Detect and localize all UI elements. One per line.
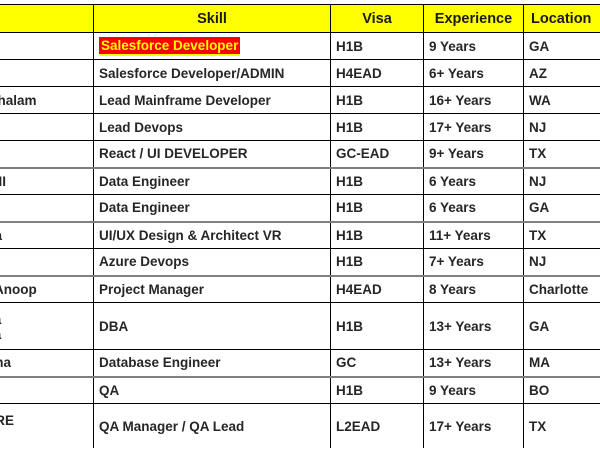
cell-experience[interactable]: 8 Years [424,276,524,303]
cell-location[interactable]: GA [524,33,600,60]
cell-location[interactable]: NJ [524,114,600,141]
cell-visa[interactable]: H1B [331,303,424,350]
cell-name[interactable]: mratha [0,350,94,377]
name-multiline: SHORE MAR [0,413,88,443]
table-row[interactable]: vi Data Engineer H1B 6 Years GA [0,195,600,222]
cell-experience[interactable]: 11+ Years [424,222,524,249]
spreadsheet-viewport: me Skill Visa Experience Location eethi … [0,0,600,450]
cell-skill[interactable]: Database Engineer [94,350,331,377]
cell-location[interactable]: GA [524,195,600,222]
column-header-location[interactable]: Location [524,5,600,33]
cell-location[interactable]: TX [524,222,600,249]
cell-experience[interactable]: 16+ Years [424,87,524,114]
cell-name[interactable]: eeraj [0,141,94,168]
cell-skill[interactable]: Azure Devops [94,249,331,276]
cell-name[interactable]: kal [0,249,94,276]
cell-visa[interactable]: H4EAD [331,276,424,303]
column-header-visa[interactable]: Visa [331,5,424,33]
cell-skill[interactable]: UI/UX Design & Architect VR [94,222,331,249]
skill-highlight: Salesforce Developer [99,37,240,56]
cell-visa[interactable]: H1B [331,222,424,249]
table-row[interactable]: ranya UI/UX Design & Architect VR H1B 11… [0,222,600,249]
cell-visa[interactable]: H1B [331,114,424,141]
candidate-table: me Skill Visa Experience Location eethi … [0,4,600,450]
cell-visa[interactable]: L2EAD [331,404,424,450]
table-body: eethi Salesforce Developer H1B 9 Years G… [0,33,600,450]
cell-location[interactable]: Charlotte [524,276,600,303]
table-row[interactable]: eeraj React / UI DEVELOPER GC-EAD 9+ Yea… [0,141,600,168]
cell-location[interactable]: TX [524,141,600,168]
table-row[interactable]: AVANI Data Engineer H1B 6 Years NJ [0,168,600,195]
cell-location[interactable]: MA [524,350,600,377]
cell-location[interactable]: TX [524,404,600,450]
table-row[interactable]: gna Salesforce Developer/ADMIN H4EAD 6+ … [0,60,600,87]
table-header: me Skill Visa Experience Location [0,5,600,33]
cell-location[interactable]: BO [524,377,600,404]
cell-name[interactable]: ranya [0,222,94,249]
name-multiline: nkata mana [0,312,88,342]
name-line-2: mana [0,327,88,342]
cell-experience[interactable]: 17+ Years [424,114,524,141]
cell-name[interactable]: vi [0,195,94,222]
column-header-skill[interactable]: Skill [94,5,331,33]
cell-skill[interactable]: Salesforce Developer [94,33,331,60]
cell-experience[interactable]: 17+ Years [424,404,524,450]
cell-name[interactable]: uthi Anoop [0,276,94,303]
cell-skill[interactable]: React / UI DEVELOPER [94,141,331,168]
cell-location[interactable]: GA [524,303,600,350]
cell-visa[interactable]: H1B [331,87,424,114]
table-row[interactable]: SHORE MAR QA Manager / QA Lead L2EAD 17+… [0,404,600,450]
table-row[interactable]: kal Azure Devops H1B 7+ Years NJ [0,249,600,276]
cell-skill[interactable]: Salesforce Developer/ADMIN [94,60,331,87]
cell-name[interactable]: gna [0,60,94,87]
table-row[interactable]: uthi Anoop Project Manager H4EAD 8 Years… [0,276,600,303]
cell-experience[interactable]: 13+ Years [424,350,524,377]
cell-skill[interactable]: Data Engineer [94,168,331,195]
cell-visa[interactable]: H1B [331,33,424,60]
cell-location[interactable]: NJ [524,168,600,195]
cell-visa[interactable]: H1B [331,249,424,276]
cell-skill[interactable]: DBA [94,303,331,350]
cell-experience[interactable]: 7+ Years [424,249,524,276]
cell-visa[interactable]: H1B [331,195,424,222]
cell-visa[interactable]: GC-EAD [331,141,424,168]
name-line-1: nkata [0,312,88,327]
cell-name[interactable]: rthik [0,377,94,404]
column-header-name[interactable]: me [0,5,94,33]
cell-visa[interactable]: H1B [331,168,424,195]
cell-experience[interactable]: 9 Years [424,377,524,404]
table-row[interactable]: rthik QA H1B 9 Years BO [0,377,600,404]
cell-experience[interactable]: 6 Years [424,195,524,222]
cell-name[interactable]: nkata mana [0,303,94,350]
cell-location[interactable]: AZ [524,60,600,87]
cell-skill[interactable]: QA Manager / QA Lead [94,404,331,450]
cell-visa[interactable]: H1B [331,377,424,404]
table-row[interactable]: eethi Salesforce Developer H1B 9 Years G… [0,33,600,60]
table-row[interactable]: nkata mana DBA H1B 13+ Years GA [0,303,600,350]
cell-experience[interactable]: 9 Years [424,33,524,60]
cell-name[interactable]: unachalam [0,87,94,114]
column-header-experience[interactable]: Experience [424,5,524,33]
cell-location[interactable]: NJ [524,249,600,276]
cell-experience[interactable]: 6 Years [424,168,524,195]
cell-name[interactable]: AVANI [0,168,94,195]
cell-name[interactable]: m [0,114,94,141]
cell-visa[interactable]: H4EAD [331,60,424,87]
cell-experience[interactable]: 13+ Years [424,303,524,350]
cell-skill[interactable]: Lead Mainframe Developer [94,87,331,114]
cell-skill[interactable]: Lead Devops [94,114,331,141]
cell-location[interactable]: WA [524,87,600,114]
cell-experience[interactable]: 9+ Years [424,141,524,168]
cell-name[interactable]: eethi [0,33,94,60]
table-row[interactable]: mratha Database Engineer GC 13+ Years MA [0,350,600,377]
cell-skill[interactable]: Project Manager [94,276,331,303]
cell-skill[interactable]: QA [94,377,331,404]
cell-experience[interactable]: 6+ Years [424,60,524,87]
name-line-2: MAR [0,428,88,443]
table-row[interactable]: unachalam Lead Mainframe Developer H1B 1… [0,87,600,114]
header-row: me Skill Visa Experience Location [0,5,600,33]
table-row[interactable]: m Lead Devops H1B 17+ Years NJ [0,114,600,141]
cell-name[interactable]: SHORE MAR [0,404,94,450]
cell-visa[interactable]: GC [331,350,424,377]
cell-skill[interactable]: Data Engineer [94,195,331,222]
name-line-1: SHORE [0,413,88,428]
